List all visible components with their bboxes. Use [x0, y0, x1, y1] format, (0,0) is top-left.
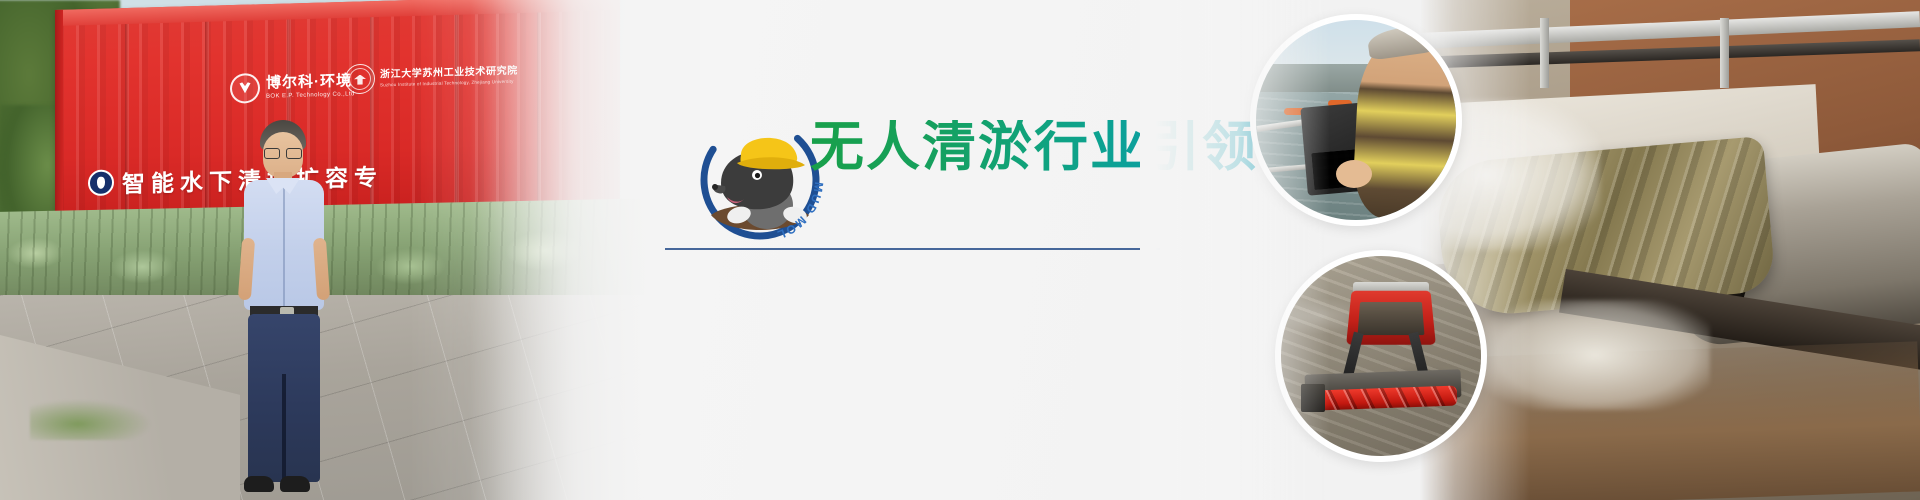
container-and-engineer-photo: 博尔科·环境 BOK E.P. Technology Co.,Ltd 浙江大学苏…	[0, 0, 660, 500]
eyeglasses	[264, 148, 302, 157]
foam-splash-lower	[1480, 300, 1710, 410]
rail-post	[1540, 18, 1549, 88]
grass-tuft	[30, 400, 150, 440]
right-photo-cluster	[1190, 0, 1920, 500]
container-brand-primary-subtext: BOK E.P. Technology Co.,Ltd	[266, 91, 355, 99]
operator-hand	[1336, 160, 1372, 188]
sludge-discharge-photo	[1420, 0, 1920, 500]
university-seal-icon	[345, 64, 375, 95]
container-brand-primary-text: 博尔科·环境	[266, 73, 355, 91]
container-brand-primary: 博尔科·环境 BOK E.P. Technology Co.,Ltd	[230, 70, 355, 103]
person-left-shoe	[244, 476, 274, 492]
operator-person	[1351, 33, 1462, 223]
person-jeans	[248, 314, 320, 482]
dredging-robot-photo	[1275, 250, 1487, 462]
container-edge	[55, 10, 63, 222]
side-gearbox	[1301, 384, 1325, 412]
headline-divider	[665, 248, 1160, 250]
container-brand-secondary: 浙江大学苏州工业技术研究院 Suzhou Institute of Indust…	[345, 60, 518, 95]
rail-post	[1720, 18, 1729, 88]
person-shirt	[244, 180, 324, 310]
person-right-shoe	[280, 476, 310, 492]
operator-console-photo	[1250, 14, 1462, 226]
boke-badge-icon	[230, 73, 260, 104]
container-brand-secondary-subtext: Suzhou Institute of Industrial Technolog…	[380, 79, 518, 88]
slogan-badge-icon	[88, 169, 114, 196]
hero-banner: 博尔科·环境 BOK E.P. Technology Co.,Ltd 浙江大学苏…	[0, 0, 1920, 500]
center-content: MUD MOLE 无人清淤行业引领者	[660, 0, 1220, 500]
engineer-person	[218, 120, 348, 500]
